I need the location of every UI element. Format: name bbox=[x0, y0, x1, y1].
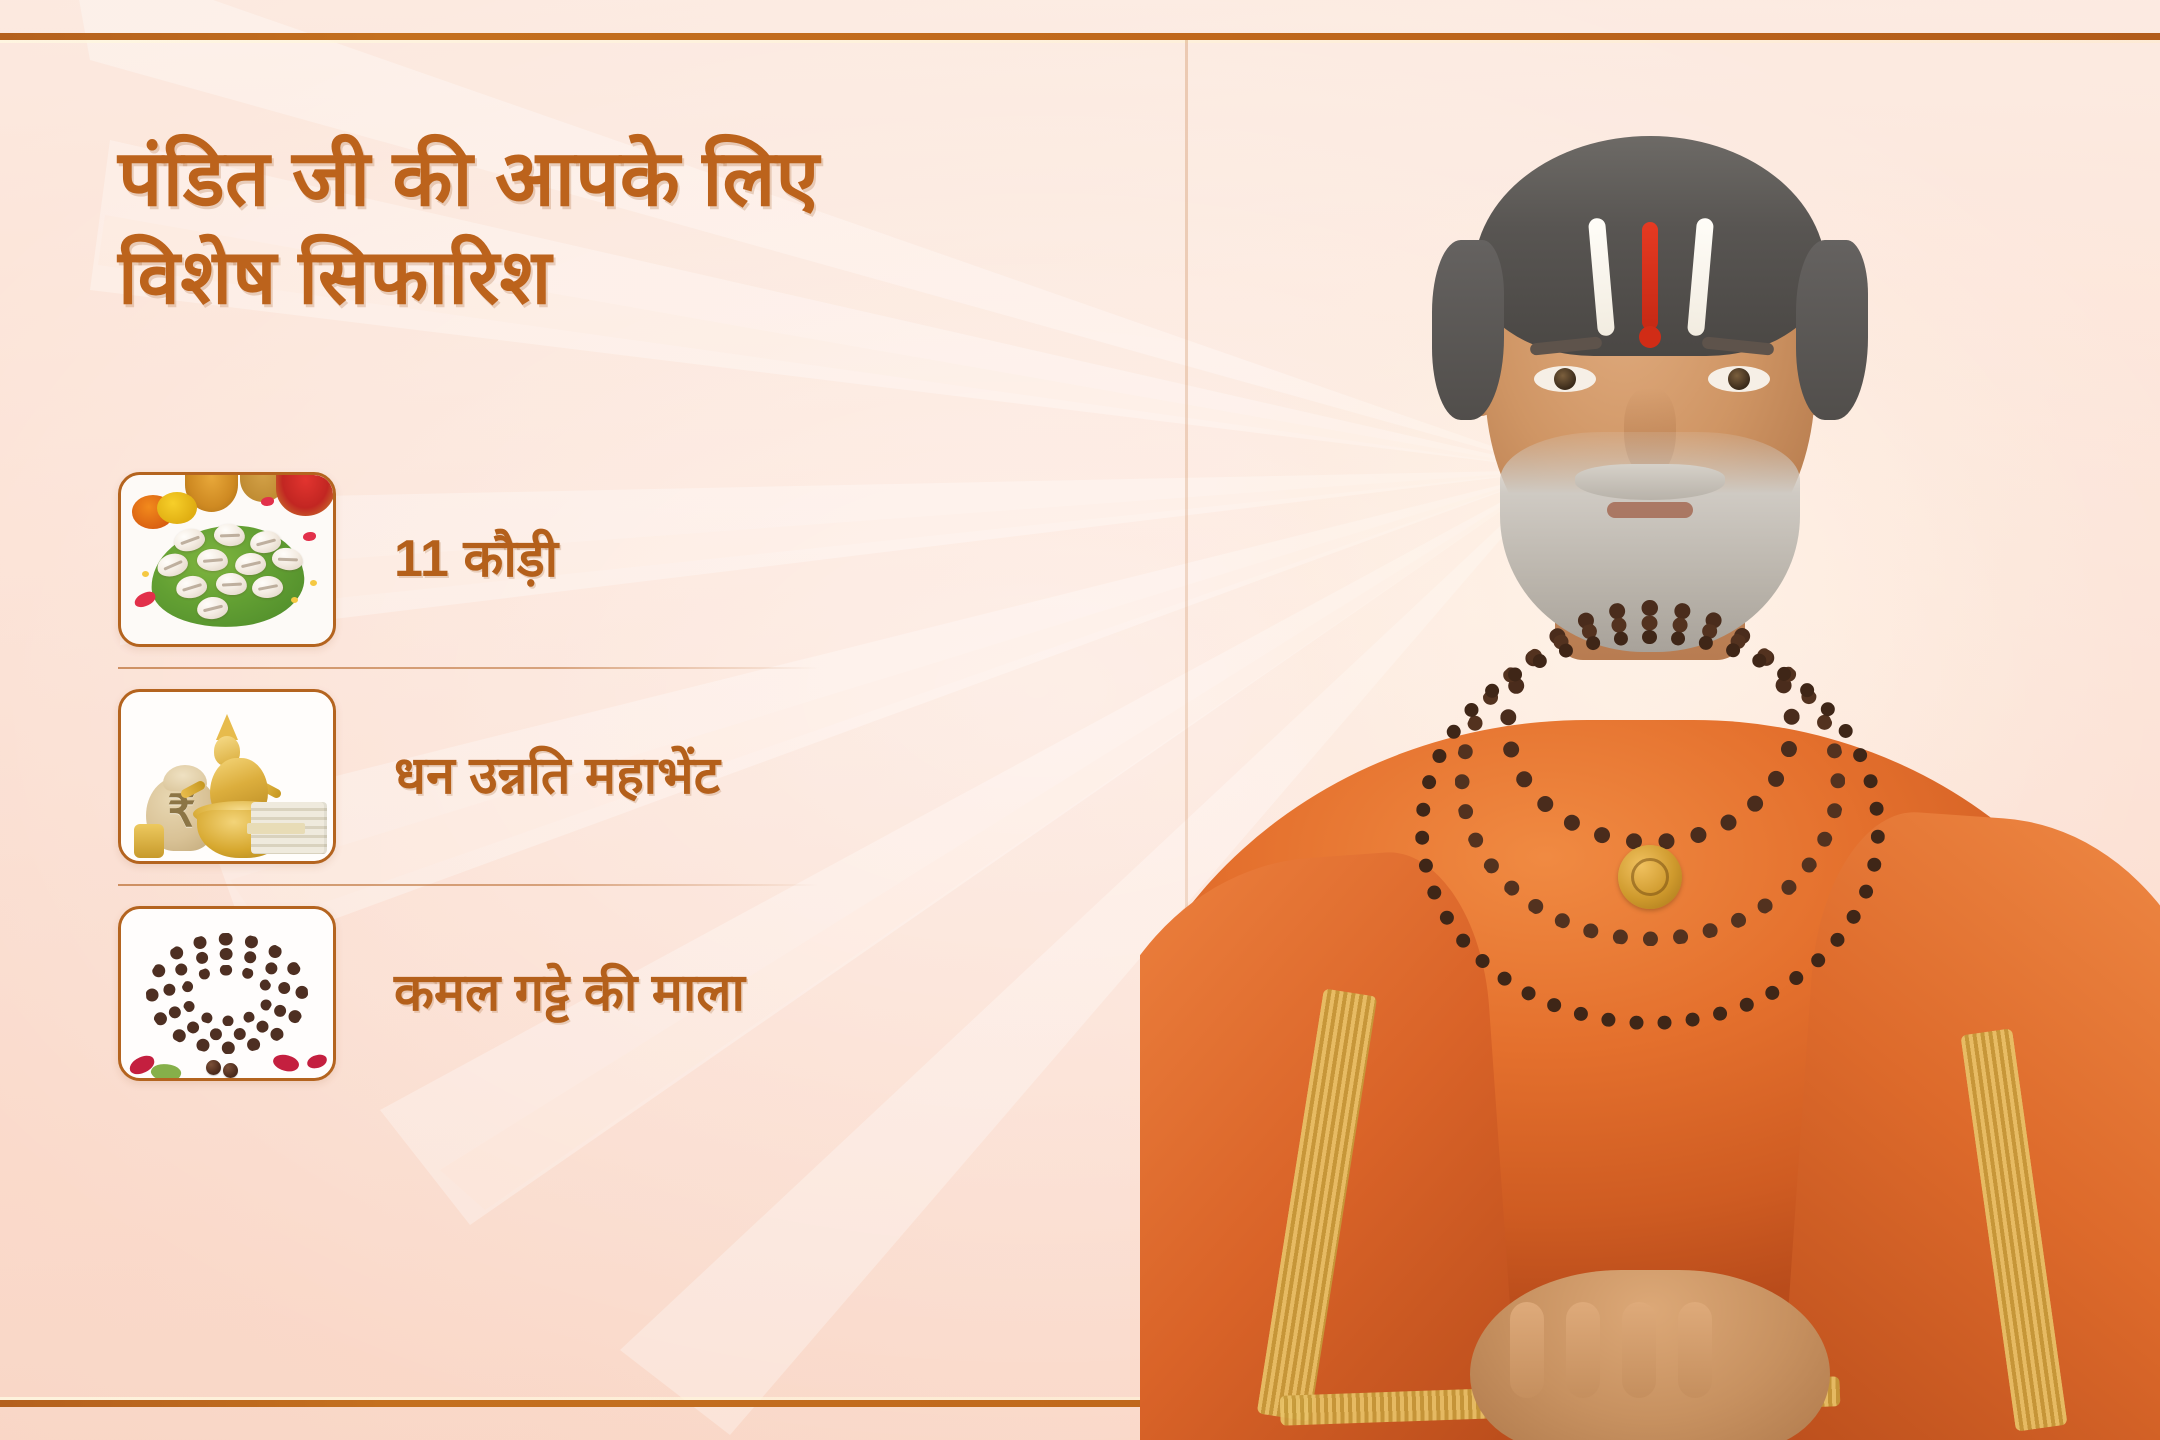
title-line-1: पंडित जी की आपके लिए bbox=[118, 128, 1158, 229]
page-title: पंडित जी की आपके लिए विशेष सिफारिश bbox=[118, 128, 1158, 328]
list-item-label: धन उन्नति महाभेंट bbox=[394, 747, 720, 807]
eye-right bbox=[1708, 366, 1770, 392]
lips bbox=[1607, 502, 1693, 518]
recommendation-list: 11 कौड़ी ₹ bbox=[118, 452, 938, 1101]
title-line-2: विशेष सिफारिश bbox=[118, 229, 1158, 328]
pandit-portrait bbox=[1140, 40, 2160, 1440]
lotus-mala-thumbnail[interactable] bbox=[118, 906, 336, 1081]
mala-pendant bbox=[1618, 845, 1682, 909]
list-item[interactable]: ₹ धन उन्नति महाभेंट bbox=[118, 669, 938, 884]
cowrie-shells-thumbnail[interactable] bbox=[118, 472, 336, 647]
rudraksha-mala-outer bbox=[1415, 630, 1885, 1030]
list-item-label: 11 कौड़ी bbox=[394, 530, 558, 590]
list-item-label: कमल गट्टे की माला bbox=[394, 964, 745, 1024]
lakshmi-money-thumbnail[interactable]: ₹ bbox=[118, 689, 336, 864]
eye-left bbox=[1534, 366, 1596, 392]
list-item[interactable]: कमल गट्टे की माला bbox=[118, 886, 938, 1101]
list-item[interactable]: 11 कौड़ी bbox=[118, 452, 938, 667]
folded-hands bbox=[1470, 1270, 1830, 1440]
tilak-red-stripe bbox=[1642, 222, 1658, 330]
recommendation-card: पंडित जी की आपके लिए विशेष सिफारिश bbox=[0, 0, 2160, 1440]
mustache bbox=[1575, 464, 1725, 500]
tilak-dot bbox=[1639, 326, 1661, 348]
top-border-rule bbox=[0, 33, 2160, 40]
hair-side-left bbox=[1432, 240, 1504, 420]
hair-side-right bbox=[1796, 240, 1868, 420]
